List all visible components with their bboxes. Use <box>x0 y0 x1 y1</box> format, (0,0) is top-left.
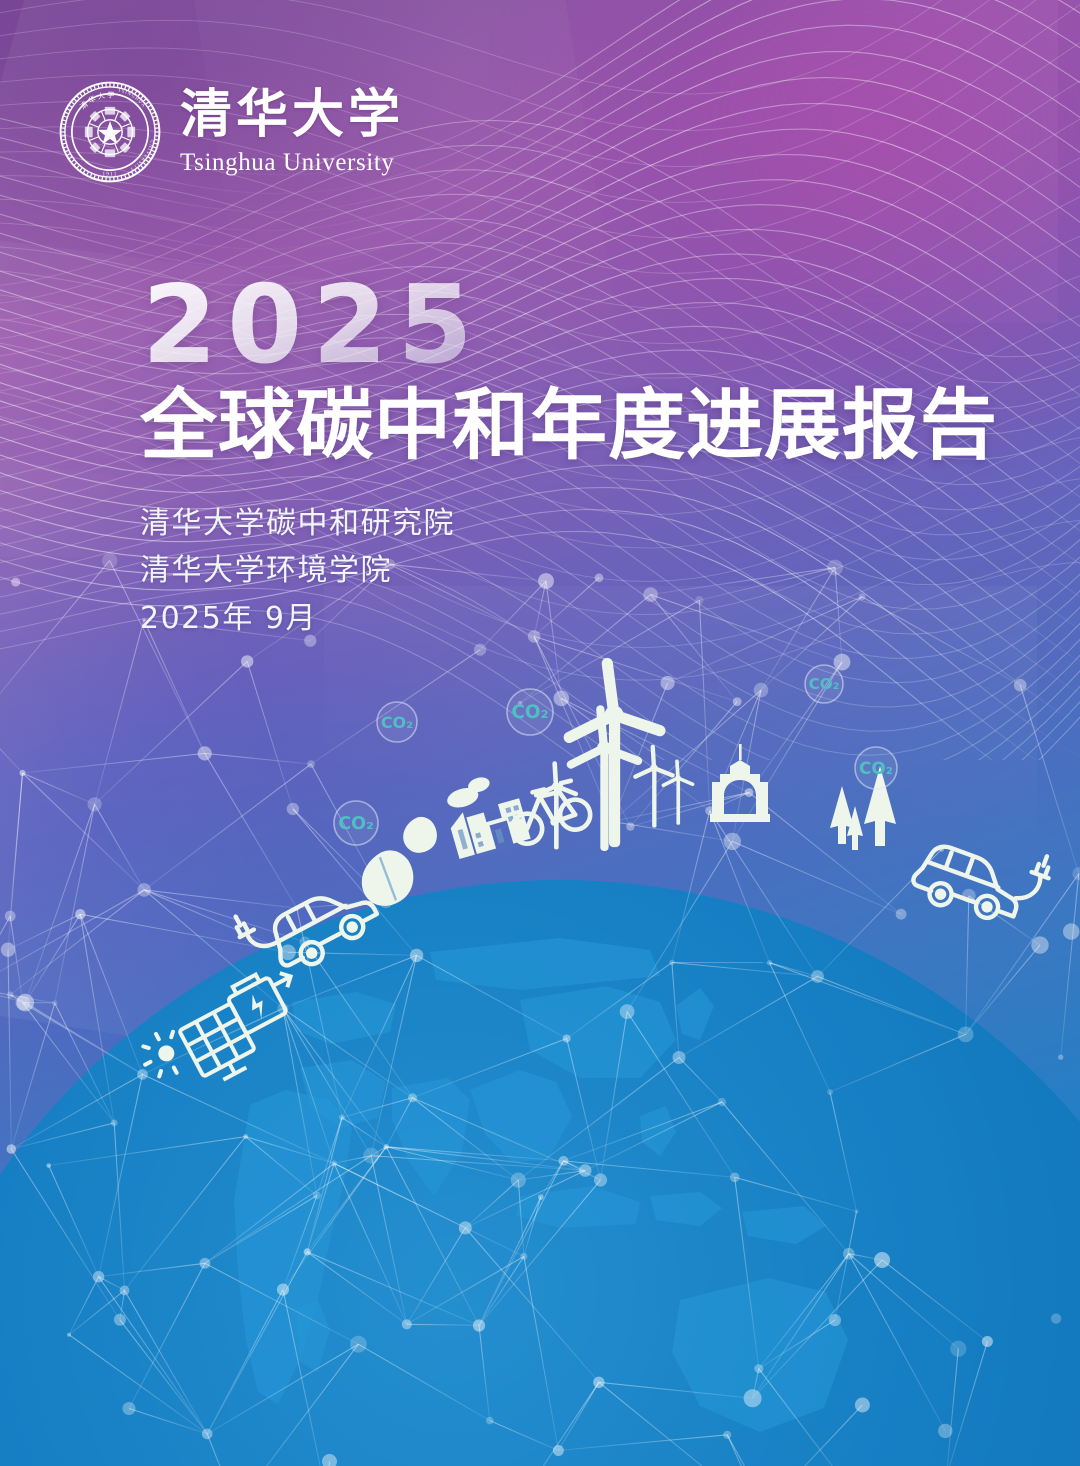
co2-label: CO₂ <box>511 702 548 723</box>
report-year: 2025 <box>142 272 1000 380</box>
co2-bubble-3: CO₂ <box>507 689 553 735</box>
report-cover: CO₂CO₂CO₂CO₂CO₂ <box>0 0 1080 1466</box>
factory-icon <box>439 768 530 859</box>
wind-turbine-icon <box>663 761 692 824</box>
co2-bubble-2: CO₂ <box>377 702 417 742</box>
page-title: 全球碳中和年度进展报告 <box>140 386 1000 468</box>
co2-label: CO₂ <box>809 675 840 693</box>
tsinghua-seal-icon: 清华大学 UNIVERSITY TSINGHUA 1911 <box>58 80 162 184</box>
wordmark-en: Tsinghua University <box>180 150 404 175</box>
seal-year: 1911 <box>102 171 117 177</box>
tsinghua-logo: 清华大学 UNIVERSITY TSINGHUA 1911 清华大 <box>58 80 404 184</box>
subtitle-line-institute: 清华大学碳中和研究院 <box>140 500 455 547</box>
wordmark-cn: 清华大学 <box>180 89 404 141</box>
globe-ocean-shading <box>0 880 1080 1466</box>
tsinghua-wordmark: 清华大学 Tsinghua University <box>180 89 404 175</box>
co2-bubble-1: CO₂ <box>334 801 378 845</box>
subtitle-line-date: 2025年 9月 <box>140 595 455 642</box>
subtitle-block: 清华大学碳中和研究院 清华大学环境学院 2025年 9月 <box>140 500 455 642</box>
globe-illustration: CO₂CO₂CO₂CO₂CO₂ <box>0 0 1080 1466</box>
co2-label: CO₂ <box>381 713 413 732</box>
co2-bubble-5: CO₂ <box>855 747 897 789</box>
co2-label: CO₂ <box>338 814 374 834</box>
co2-label: CO₂ <box>859 758 893 778</box>
building-arch-icon <box>710 744 770 822</box>
title-block: 2025 全球碳中和年度进展报告 <box>140 272 1000 468</box>
electric-car-plug-icon <box>908 816 1055 937</box>
co2-bubble-4: CO₂ <box>805 665 843 703</box>
subtitle-line-school: 清华大学环境学院 <box>140 547 455 594</box>
